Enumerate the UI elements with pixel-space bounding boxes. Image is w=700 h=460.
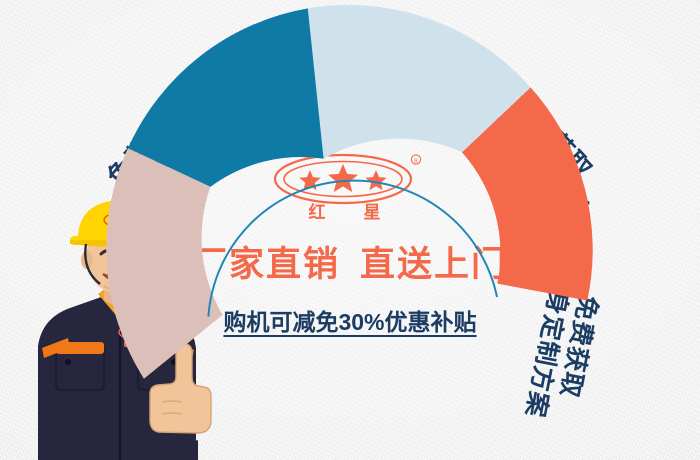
wheel	[0, 0, 700, 460]
inner-ring	[208, 181, 497, 317]
promo-banner: 免费预约 到厂带料试机 免费咨询 设备优惠报价 免费获取 环保政策分析 免费获取…	[0, 0, 700, 460]
segment-blue[interactable]	[128, 8, 324, 187]
